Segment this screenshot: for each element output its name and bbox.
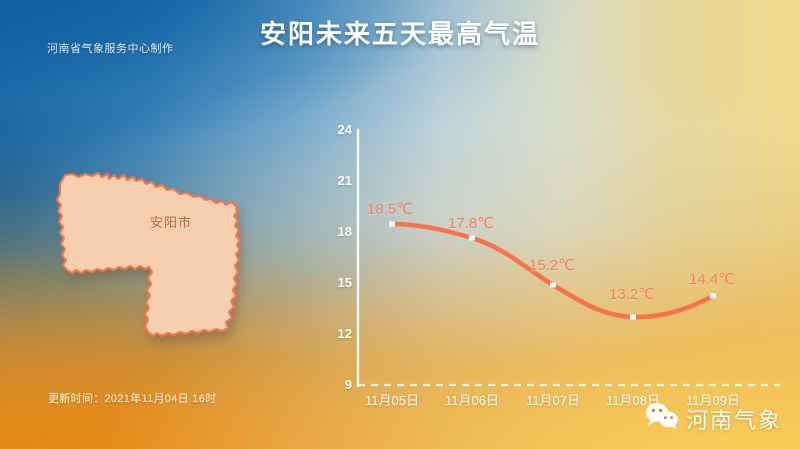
y-tick-24: 24 — [322, 122, 352, 137]
x-tick-day-2: 11月06日 — [432, 390, 512, 409]
wechat-badge: 河南气象 — [645, 402, 782, 435]
data-label-day-5: 14.4℃ — [689, 270, 735, 288]
y-tick-15: 15 — [322, 275, 352, 290]
weather-infographic: 河南省气象服务中心制作 安阳未来五天最高气温 安阳市 — [0, 0, 800, 449]
y-tick-12: 12 — [322, 326, 352, 341]
update-time-label: 更新时间：2021年11月04日 16时 — [48, 390, 216, 406]
wechat-icon — [645, 402, 679, 435]
data-label-day-4: 13.2℃ — [609, 285, 655, 303]
y-tick-21: 21 — [322, 173, 352, 188]
temperature-line-chart: 24 21 18 15 12 9 11月05日 11月06日 11月07日 11… — [0, 0, 800, 449]
y-tick-9: 9 — [322, 377, 352, 392]
x-tick-day-1: 11月05日 — [352, 390, 432, 409]
data-label-day-3: 15.2℃ — [529, 256, 575, 274]
y-tick-18: 18 — [322, 224, 352, 239]
data-label-day-2: 17.8℃ — [448, 214, 494, 232]
x-tick-day-3: 11月07日 — [513, 390, 593, 409]
data-label-day-1: 18.5℃ — [367, 200, 413, 218]
wechat-account-name: 河南气象 — [686, 403, 782, 435]
